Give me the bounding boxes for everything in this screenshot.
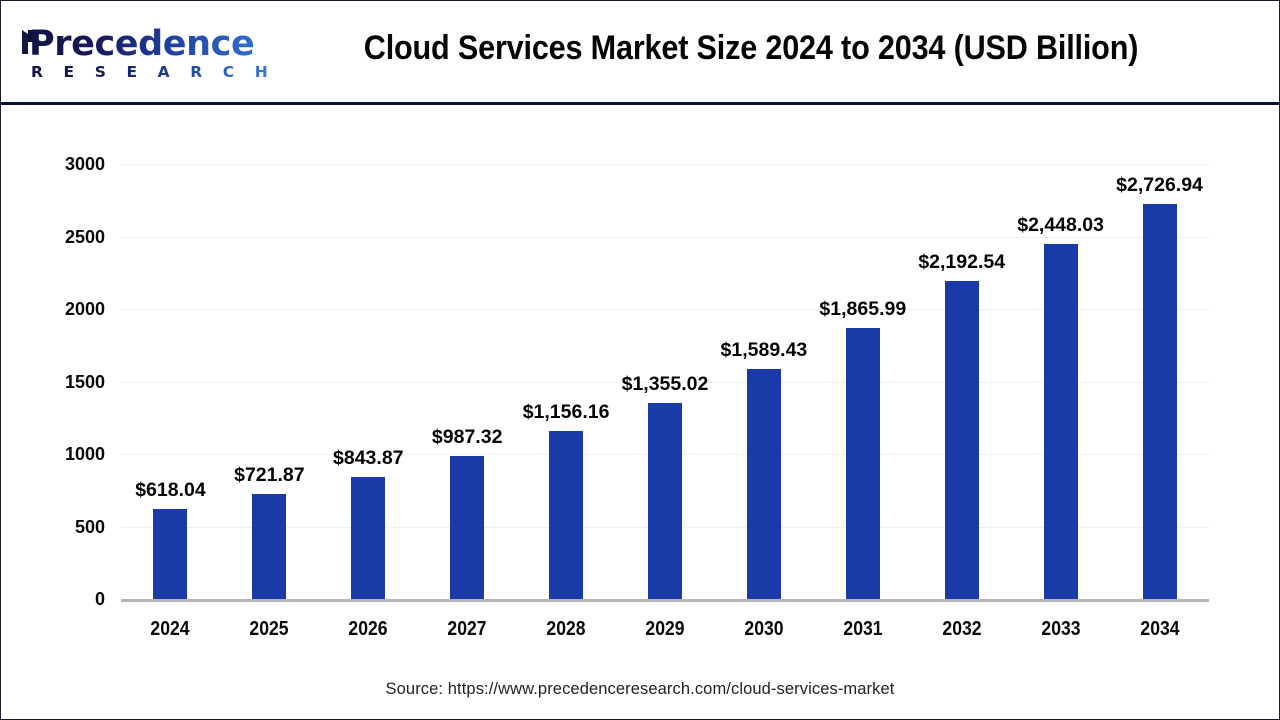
- chart-page: Precedence R E S E A R C H Cloud Service…: [0, 0, 1280, 720]
- x-axis-tick-label: 2026: [320, 618, 417, 640]
- bar-value-label: $1,589.43: [679, 340, 849, 360]
- bar-2025[interactable]: [252, 494, 286, 599]
- y-axis-tick-label: 1500: [15, 373, 105, 391]
- bar-2033[interactable]: [1044, 244, 1078, 599]
- x-axis-tick-label: 2028: [518, 618, 615, 640]
- x-axis-line: [121, 599, 1209, 602]
- y-axis-tick-label: 3000: [15, 155, 105, 173]
- logo-subtitle: R E S E A R C H: [31, 63, 275, 81]
- x-axis-tick-label: 2032: [913, 618, 1010, 640]
- bar-value-label: $1,865.99: [778, 299, 948, 319]
- bar-value-label: $2,448.03: [976, 215, 1146, 235]
- x-axis-tick-label: 2029: [617, 618, 714, 640]
- x-axis-tick-label: 2033: [1012, 618, 1109, 640]
- bar-2024[interactable]: [153, 509, 187, 599]
- x-axis-tick-label: 2024: [122, 618, 219, 640]
- x-axis-tick-label: 2025: [221, 618, 318, 640]
- logo-wordmark: Precedence: [29, 25, 254, 63]
- bar-value-label: $721.87: [184, 465, 354, 485]
- bar-value-label: $843.87: [283, 448, 453, 468]
- bar-2031[interactable]: [846, 328, 880, 599]
- y-axis-tick-label: 1000: [15, 445, 105, 463]
- bar-2029[interactable]: [648, 403, 682, 599]
- bar-2030[interactable]: [747, 369, 781, 599]
- bar-2027[interactable]: [450, 456, 484, 599]
- bar-value-label: $987.32: [382, 427, 552, 447]
- bar-value-label: $2,726.94: [1075, 175, 1245, 195]
- x-axis-tick-label: 2031: [814, 618, 911, 640]
- bar-2026[interactable]: [351, 477, 385, 599]
- bar-2032[interactable]: [945, 281, 979, 599]
- x-axis-tick-label: 2034: [1111, 618, 1208, 640]
- source-note: Source: https://www.precedenceresearch.c…: [1, 680, 1279, 699]
- x-axis-tick-label: 2027: [419, 618, 516, 640]
- chart-header: Precedence R E S E A R C H Cloud Service…: [1, 1, 1279, 105]
- gridline: [121, 237, 1209, 238]
- precedence-research-logo: Precedence R E S E A R C H: [15, 25, 227, 85]
- y-axis-tick-label: 2000: [15, 300, 105, 318]
- y-axis-tick-label: 0: [15, 590, 105, 608]
- bar-value-label: $1,355.02: [580, 374, 750, 394]
- bar-2028[interactable]: [549, 431, 583, 599]
- bar-value-label: $2,192.54: [877, 252, 1047, 272]
- bar-2034[interactable]: [1143, 204, 1177, 599]
- page-title: Cloud Services Market Size 2024 to 2034 …: [301, 29, 1201, 68]
- x-axis-tick-label: 2030: [716, 618, 813, 640]
- bar-value-label: $1,156.16: [481, 402, 651, 422]
- chart-plot-area: Source: https://www.precedenceresearch.c…: [1, 105, 1279, 719]
- y-axis-tick-label: 500: [15, 518, 105, 536]
- y-axis-tick-label: 2500: [15, 228, 105, 246]
- gridline: [121, 164, 1209, 165]
